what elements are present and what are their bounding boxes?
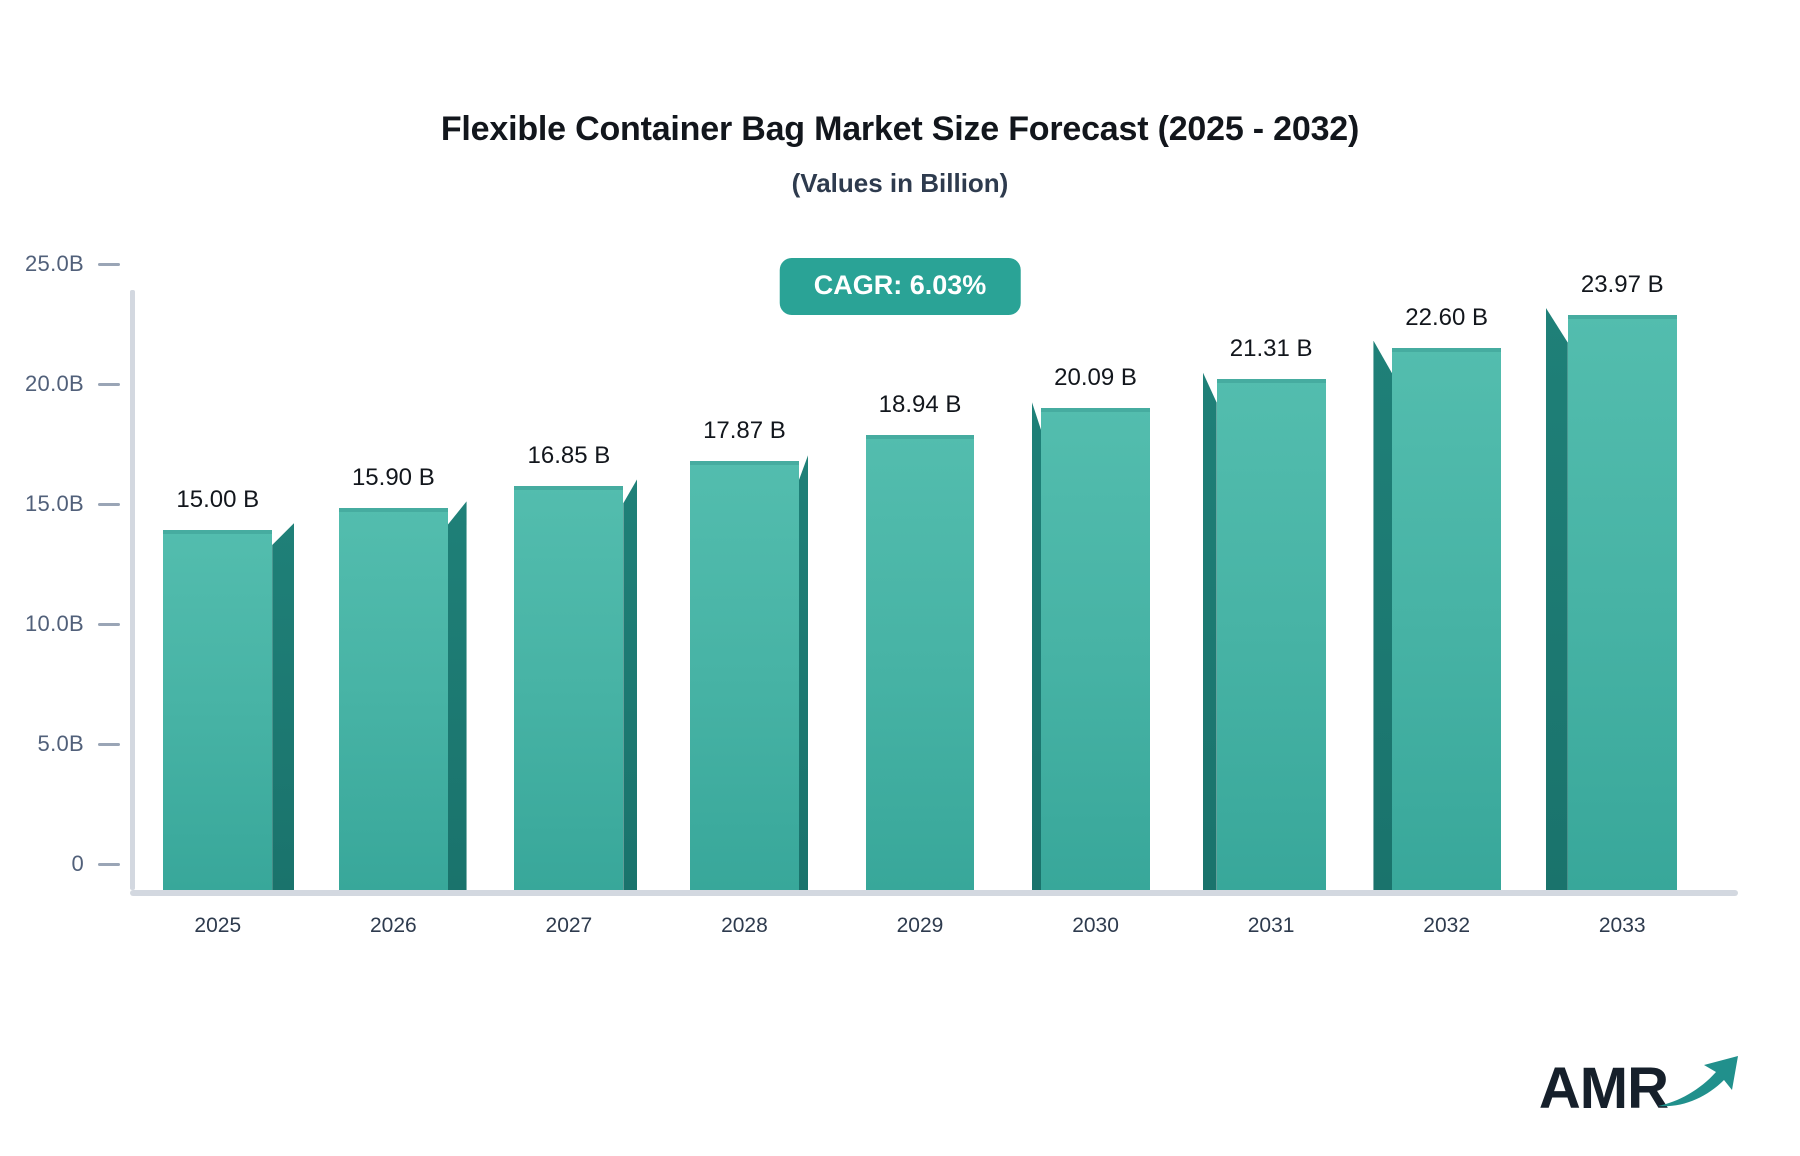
bar-value-label: 16.85 B [528,442,611,470]
bar[interactable] [163,530,272,890]
bar-value-label: 17.87 B [703,417,786,445]
bar-group: 15.00 B2025 [163,290,272,890]
bar-side-face [1032,401,1042,890]
x-axis-tick-label: 2031 [1248,914,1295,938]
bar[interactable] [1392,348,1501,890]
chart-canvas: Flexible Container Bag Market Size Forec… [0,0,1800,1156]
bar-top-edge [1041,408,1150,412]
bar[interactable] [1217,379,1326,890]
bar[interactable] [514,486,623,890]
y-axis-tick: 0 [71,851,130,877]
bar-top-edge [1392,348,1501,352]
bar-top-edge [163,530,272,534]
bar-value-label: 23.97 B [1581,271,1664,299]
x-axis-tick-label: 2033 [1599,914,1646,938]
x-axis-tick-label: 2029 [897,914,944,938]
bar-side-face [799,454,809,890]
y-axis-tick-label: 5.0B [38,731,84,757]
y-axis-tick: 15.0B [25,491,130,517]
bar-side-face [448,501,467,890]
y-axis-tick: 5.0B [38,731,130,757]
bar-side-face [1203,372,1217,890]
bar-top-edge [514,486,623,490]
bar[interactable] [1041,408,1150,890]
bar-top-edge [866,435,975,439]
bar-group: 22.60 B2032 [1392,290,1501,890]
y-axis-tick: 10.0B [25,611,130,637]
bar-value-label: 20.09 B [1054,364,1137,392]
y-axis-tick: 25.0B [25,251,130,277]
bar-wrapper: 17.87 B2028 [690,290,799,890]
bar-group: 15.90 B2026 [339,290,448,890]
y-axis-tick-mark [98,863,120,866]
x-axis-tick-label: 2027 [546,914,593,938]
bar-top-edge [339,508,448,512]
y-axis-tick-mark [98,623,120,626]
bar-top-edge [1568,315,1677,319]
y-axis-tick-mark [98,743,120,746]
bar[interactable] [339,508,448,890]
bar-group: 21.31 B2031 [1217,290,1326,890]
bar-top-edge [1217,379,1326,383]
bar-side-face [1546,308,1568,890]
bar-side-face [1373,341,1392,890]
y-axis-tick-label: 15.0B [25,491,84,517]
bar-wrapper: 21.31 B2031 [1217,290,1326,890]
plot-area: 25.0B20.0B15.0B10.0B5.0B0 15.00 B202515.… [130,290,1710,890]
bar[interactable] [690,461,799,890]
y-axis-tick-mark [98,383,120,386]
amr-logo: AMR [1539,1052,1742,1118]
bar-wrapper: 15.00 B2025 [163,290,272,890]
y-axis-tick-label: 10.0B [25,611,84,637]
bar-group: 18.94 B2029 [866,290,975,890]
y-axis-tick-label: 25.0B [25,251,84,277]
bar-group: 16.85 B2027 [514,290,623,890]
x-axis-tick-label: 2026 [370,914,417,938]
y-axis-tick-label: 20.0B [25,371,84,397]
bar[interactable] [866,435,975,890]
bar-value-label: 21.31 B [1230,335,1313,363]
y-axis-tick-label: 0 [71,851,84,877]
bar-value-label: 22.60 B [1405,304,1488,332]
x-axis-tick-label: 2032 [1423,914,1470,938]
bar-wrapper: 22.60 B2032 [1392,290,1501,890]
y-axis-line [130,290,135,890]
bar-wrapper: 16.85 B2027 [514,290,623,890]
bar-side-face [272,523,294,890]
bar-wrapper: 18.94 B2029 [866,290,975,890]
growth-arrow-icon [1656,1052,1742,1116]
bar-group: 20.09 B2030 [1041,290,1150,890]
chart-title: Flexible Container Bag Market Size Forec… [0,110,1800,149]
bar-wrapper: 23.97 B2033 [1568,290,1677,890]
bar-group: 17.87 B2028 [690,290,799,890]
bar-wrapper: 15.90 B2026 [339,290,448,890]
chart-subtitle: (Values in Billion) [0,168,1800,199]
y-axis-tick: 20.0B [25,371,130,397]
bar-top-edge [690,461,799,465]
bar-value-label: 15.00 B [176,486,259,514]
bar-side-face [623,479,637,890]
logo-text: AMR [1539,1060,1668,1118]
y-axis-tick-mark [98,503,120,506]
x-axis-tick-label: 2025 [194,914,241,938]
bar-group: 23.97 B2033 [1568,290,1677,890]
y-axis-tick-mark [98,263,120,266]
bar-wrapper: 20.09 B2030 [1041,290,1150,890]
bar-value-label: 18.94 B [879,391,962,419]
x-axis-tick-label: 2030 [1072,914,1119,938]
x-axis-line [130,890,1738,896]
x-axis-tick-label: 2028 [721,914,768,938]
bar[interactable] [1568,315,1677,890]
bar-value-label: 15.90 B [352,464,435,492]
